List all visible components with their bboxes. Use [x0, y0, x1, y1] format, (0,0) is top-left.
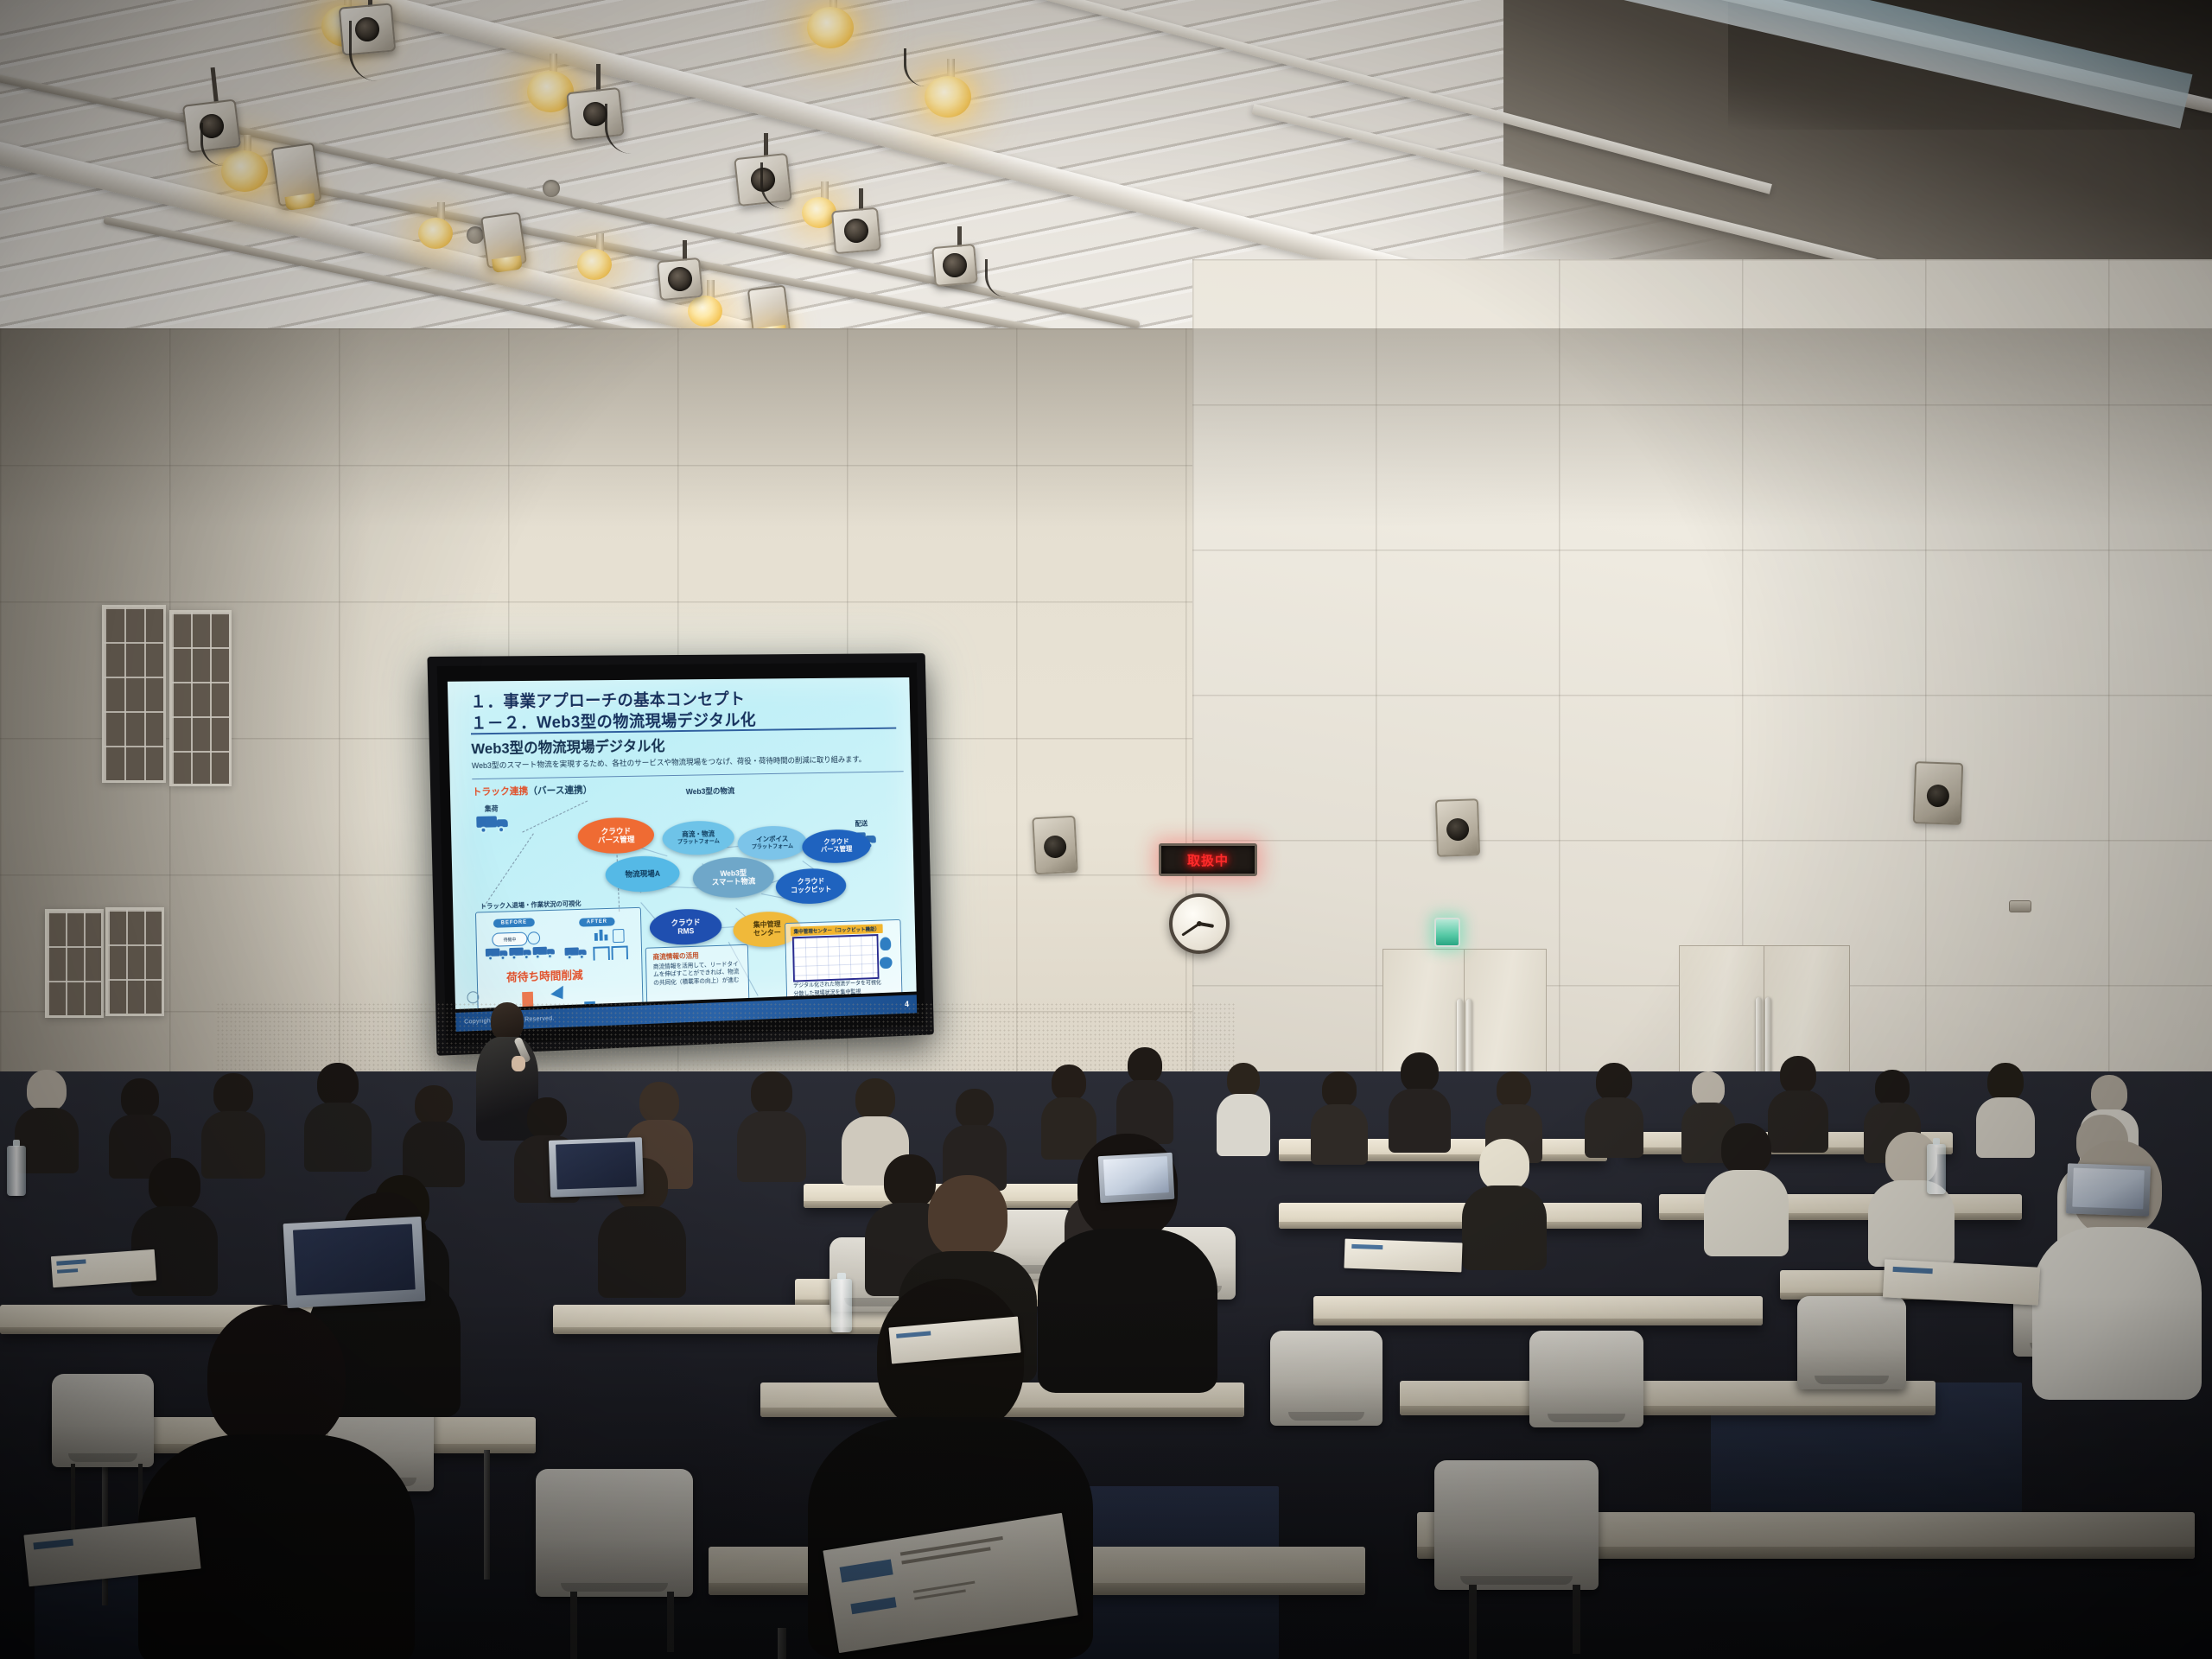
chair-right-1[interactable]: [1270, 1331, 1382, 1426]
node-label-bottom: プラットフォーム: [752, 843, 793, 850]
node-label-bottom: センター: [753, 929, 781, 938]
tablet-center[interactable]: [1098, 1153, 1175, 1203]
node-invoice-platform: インボイス プラットフォーム: [737, 825, 807, 861]
operator-icon: [880, 957, 893, 969]
spotlight-7: [657, 257, 703, 301]
water-bottle-right[interactable]: [1927, 1144, 1946, 1194]
tablet-right[interactable]: [2066, 1163, 2151, 1216]
attendee-foreground-left: [190, 1305, 363, 1659]
dock-bay-icon-2: [611, 945, 628, 959]
door-right-handle-a[interactable]: [1756, 997, 1762, 1080]
presenter-head: [491, 1002, 524, 1040]
projection-screen: １．事業アプローチの基本コンセプト １－２．Web3型の物流現場デジタル化 We…: [427, 653, 933, 1056]
door-right-handle-b[interactable]: [1765, 997, 1771, 1080]
ceiling-bulb-9: [802, 197, 836, 228]
water-bottle-left[interactable]: [7, 1146, 26, 1196]
slide-label-truck-link: トラック連携（バース連携）: [472, 783, 592, 798]
waiting-time-reduction-headline: 荷待ち時間削減: [506, 966, 583, 985]
spotlight-5: [831, 207, 881, 255]
attendee-left-1: [19, 1070, 74, 1172]
slide-label-delivery: 配送: [855, 819, 868, 829]
queued-truck-icon-3: [533, 947, 549, 957]
exit-indicator-icon: [1434, 918, 1460, 947]
attendee-back-11: [1979, 1063, 2032, 1158]
ceiling-bulb-3: [925, 76, 971, 118]
chair-leg-6: [667, 1592, 674, 1652]
pickup-truck-icon: [476, 816, 511, 836]
queued-truck-icon-1: [486, 948, 501, 957]
chair-left-1[interactable]: [52, 1374, 154, 1467]
ai-bulb-icon: [880, 937, 891, 950]
node-label-bottom: バース管理: [821, 846, 853, 855]
chair-leg-7: [1469, 1585, 1477, 1659]
attendee-left-8: [743, 1071, 800, 1180]
dock-bay-icon-1: [593, 946, 610, 960]
commerce-info-title: 商流情報の活用: [652, 951, 698, 963]
attendee-mid-6: [1469, 1139, 1540, 1270]
attendee-back-2: [1120, 1047, 1170, 1144]
wall-speaker-right: [1913, 761, 1963, 825]
commerce-info-box: 商流情報の活用 商流情報を活用して、リードタイムを伸ばすことができれば、物流の共…: [645, 944, 750, 1009]
before-after-box: BEFORE AFTER 待機中 荷待ち時間削減: [475, 907, 644, 1009]
node-cloud-berth-blue: クラウド バース管理: [802, 829, 871, 863]
clock-center-pin: [1197, 921, 1202, 926]
led-status-sign: 取扱中: [1159, 843, 1257, 876]
bulb-stem-8: [707, 280, 715, 297]
presenter-hand: [512, 1056, 525, 1071]
attendee-left-4: [309, 1063, 366, 1170]
chair-right-2[interactable]: [1529, 1331, 1643, 1427]
acoustic-panel-left-2: [169, 610, 232, 786]
after-bar-1: [594, 933, 598, 941]
attendee-left-3: [206, 1073, 261, 1177]
led-sign-text: 取扱中: [1187, 851, 1229, 869]
ceiling-bulb-5: [221, 150, 268, 192]
acoustic-panel-left-1: [102, 605, 166, 783]
chair-leg-8: [1573, 1585, 1580, 1654]
cockpit-dashboard-screenshot: [792, 934, 880, 982]
slide-label-pickup: 集荷: [485, 804, 499, 813]
handout-right[interactable]: [1344, 1239, 1462, 1273]
attendee-back-7: [1588, 1063, 1640, 1158]
slide-lead-rule: [472, 771, 903, 779]
truck-link-paren: （バース連携）: [528, 785, 592, 797]
node-cloud-cockpit: クラウド コックピット: [775, 868, 846, 905]
after-bar-3: [604, 934, 607, 940]
chair-right-3[interactable]: [1797, 1296, 1906, 1389]
table-leg-3: [778, 1628, 786, 1659]
door-left-handle-b[interactable]: [1466, 999, 1472, 1082]
attendee-back-3: [1218, 1063, 1268, 1156]
table-row-2-left: [1279, 1203, 1642, 1229]
node-label-bottom: バース管理: [598, 836, 635, 845]
ceiling-bulb-7: [577, 249, 612, 280]
laptop-left[interactable]: [283, 1217, 426, 1308]
wall-speaker-center: [1435, 798, 1480, 857]
handout-far-right[interactable]: [1883, 1259, 2040, 1305]
attendee-back-4: [1313, 1071, 1365, 1165]
after-doc-icon: [613, 929, 625, 943]
attendee-mid-7: [1711, 1123, 1782, 1256]
chair-foreground-right[interactable]: [1434, 1460, 1599, 1590]
after-bar-2: [600, 930, 603, 941]
node-label-bottom: コックピット: [791, 886, 831, 895]
table-row-3-right: [1313, 1296, 1763, 1325]
wall-fixture: [2009, 900, 2031, 912]
callout-dash-1: [522, 800, 588, 832]
acoustic-panel-left-3: [45, 909, 104, 1018]
node-cloud-rms: クラウド RMS: [649, 908, 721, 946]
ceiling-bulb-2: [807, 7, 854, 48]
after-chip: AFTER: [579, 918, 615, 927]
conference-hall-photo: 取扱中 １．事業アプローチの基本コンセプト １－２．Web3型の物流現場デジタル…: [0, 0, 2212, 1659]
slide-subtitle: Web3型の物流現場デジタル化: [471, 734, 665, 758]
node-web3-smart-logistics: Web3型 スマート物流: [692, 856, 774, 899]
slide-label-web3-logistics: Web3型の物流: [686, 785, 735, 797]
spotlight-6: [931, 244, 978, 287]
cockpit-box: 集中管理センター（コックピット機能） デジタル化された物流データを可視化 分散し…: [785, 919, 903, 1008]
chair-center-1[interactable]: [536, 1469, 693, 1597]
reduction-arrow-icon: [550, 986, 569, 1004]
wall-speaker-left: [1032, 816, 1077, 875]
water-bottle-center[interactable]: [831, 1279, 852, 1332]
truck-link-text: トラック連携: [472, 786, 528, 798]
callout-dash-2: [483, 833, 534, 907]
ceiling-bulb-6: [418, 218, 453, 249]
fresnel-light-1: [271, 143, 322, 207]
node-label-bottom: プラットフォーム: [677, 838, 720, 845]
node-commerce-logistics-platform: 商流・物流 プラットフォーム: [662, 820, 734, 855]
waiting-bubble: 待機中: [492, 932, 527, 947]
slide-content: １．事業アプローチの基本コンセプト １－２．Web3型の物流現場デジタル化 We…: [448, 677, 917, 1009]
clock-glyph-icon: [527, 931, 540, 944]
acoustic-panel-left-4: [105, 907, 164, 1016]
wall-clock: [1169, 893, 1230, 954]
node-label-bottom: RMS: [677, 926, 694, 935]
laptop-center[interactable]: [549, 1137, 644, 1198]
fresnel-light-2: [480, 212, 527, 269]
before-chip: BEFORE: [493, 918, 535, 927]
node-label-bottom: スマート物流: [712, 877, 756, 887]
attendee-left-5: [406, 1085, 461, 1187]
commerce-info-body: 商流情報を活用して、リードタイムを伸ばすことができれば、物流の共同化（積載率の向…: [653, 961, 742, 988]
attendee-back-5: [1393, 1052, 1446, 1153]
queued-truck-icon-2: [509, 947, 524, 957]
ceiling-vent-1: [543, 180, 560, 197]
after-truck-icon: [564, 947, 580, 957]
chair-leg-5: [570, 1592, 577, 1659]
ceiling-bulb-8: [688, 296, 722, 327]
table-leg-2: [484, 1450, 490, 1580]
node-label-top: クラウド: [671, 918, 700, 927]
node-label-top: 物流現場A: [625, 869, 660, 879]
door-left-handle-a[interactable]: [1457, 999, 1463, 1082]
